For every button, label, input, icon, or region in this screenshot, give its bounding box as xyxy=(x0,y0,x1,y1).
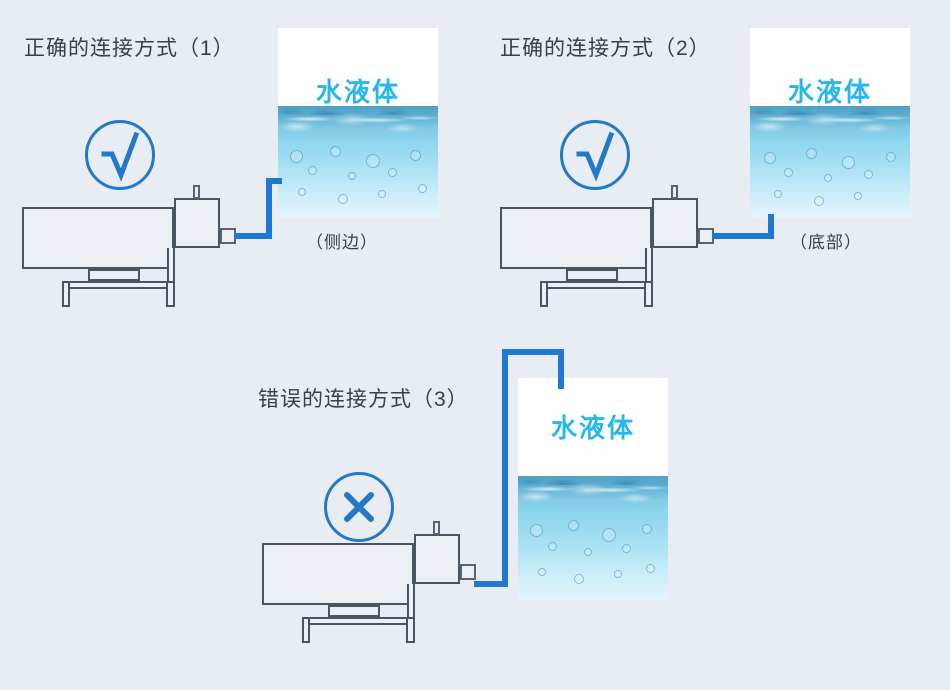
panel-1-caption: （侧边） xyxy=(306,228,378,253)
pump-head-3 xyxy=(414,534,460,584)
pump-inlet-tube-1 xyxy=(193,185,200,199)
pump-outlet-flange-3 xyxy=(460,564,476,580)
pump-motor-body-3 xyxy=(262,543,414,605)
pump-stand-leg-right-2 xyxy=(644,281,653,307)
pump-stand-beam-2 xyxy=(540,281,652,289)
pipe-1-vertical xyxy=(266,178,272,239)
pump-stand-leg-left-2 xyxy=(540,281,548,307)
pump-stand-beam-3 xyxy=(302,617,414,625)
water-body-1 xyxy=(278,106,438,218)
pump-head-2 xyxy=(652,198,698,248)
pump-assembly-1 xyxy=(0,0,300,320)
pump-motor-foot-3 xyxy=(328,605,380,617)
pump-stand-leg-left-3 xyxy=(302,617,310,643)
pump-motor-foot-1 xyxy=(88,269,140,281)
pump-motor-body-1 xyxy=(22,207,174,269)
pipe-2-vertical xyxy=(768,214,774,239)
water-bubbles-1 xyxy=(278,106,438,218)
panel-2-caption: （底部） xyxy=(790,228,862,253)
pump-inlet-tube-3 xyxy=(433,521,440,535)
pump-motor-foot-2 xyxy=(566,269,618,281)
pump-stand-leg-right-3 xyxy=(406,617,415,643)
pump-stand-leg-left-1 xyxy=(62,281,70,307)
pipe-1-entry xyxy=(266,178,282,184)
water-body-3 xyxy=(518,476,668,600)
pipe-3-vertical-drop xyxy=(558,349,564,389)
pipe-3-vertical-rise xyxy=(502,349,508,587)
pipe-2-horizontal xyxy=(712,233,774,239)
pump-assembly-3 xyxy=(240,336,540,666)
pump-stand-leg-right-1 xyxy=(166,281,175,307)
pump-motor-body-2 xyxy=(500,207,652,269)
water-tank-3-label: 水液体 xyxy=(518,408,668,445)
pipe-3-horizontal-top xyxy=(502,349,564,355)
pump-assembly-2 xyxy=(478,0,778,320)
pump-inlet-tube-2 xyxy=(671,185,678,199)
water-tank-3: 水液体 xyxy=(518,378,668,600)
pump-stand-beam-1 xyxy=(62,281,174,289)
pump-head-1 xyxy=(174,198,220,248)
water-bubbles-3 xyxy=(518,476,668,600)
water-tank-1: 水液体 xyxy=(278,28,438,218)
